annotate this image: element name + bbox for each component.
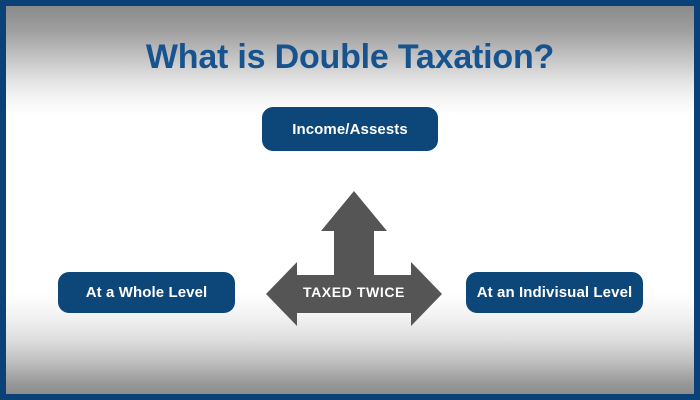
node-individual-level-label: At an Indivisual Level xyxy=(477,284,633,301)
node-income-assets[interactable]: Income/Assests xyxy=(262,107,438,151)
three-way-arrow-icon xyxy=(254,184,454,329)
infographic-canvas: What is Double Taxation? Income/Assests … xyxy=(0,0,700,400)
infographic-inner-background: What is Double Taxation? Income/Assests … xyxy=(6,6,694,394)
node-whole-level[interactable]: At a Whole Level xyxy=(58,272,235,313)
node-individual-level[interactable]: At an Indivisual Level xyxy=(466,272,643,313)
arrow-up-shape xyxy=(321,191,387,275)
node-whole-level-label: At a Whole Level xyxy=(86,284,208,301)
page-title: What is Double Taxation? xyxy=(6,38,694,77)
node-income-assets-label: Income/Assests xyxy=(292,121,408,138)
